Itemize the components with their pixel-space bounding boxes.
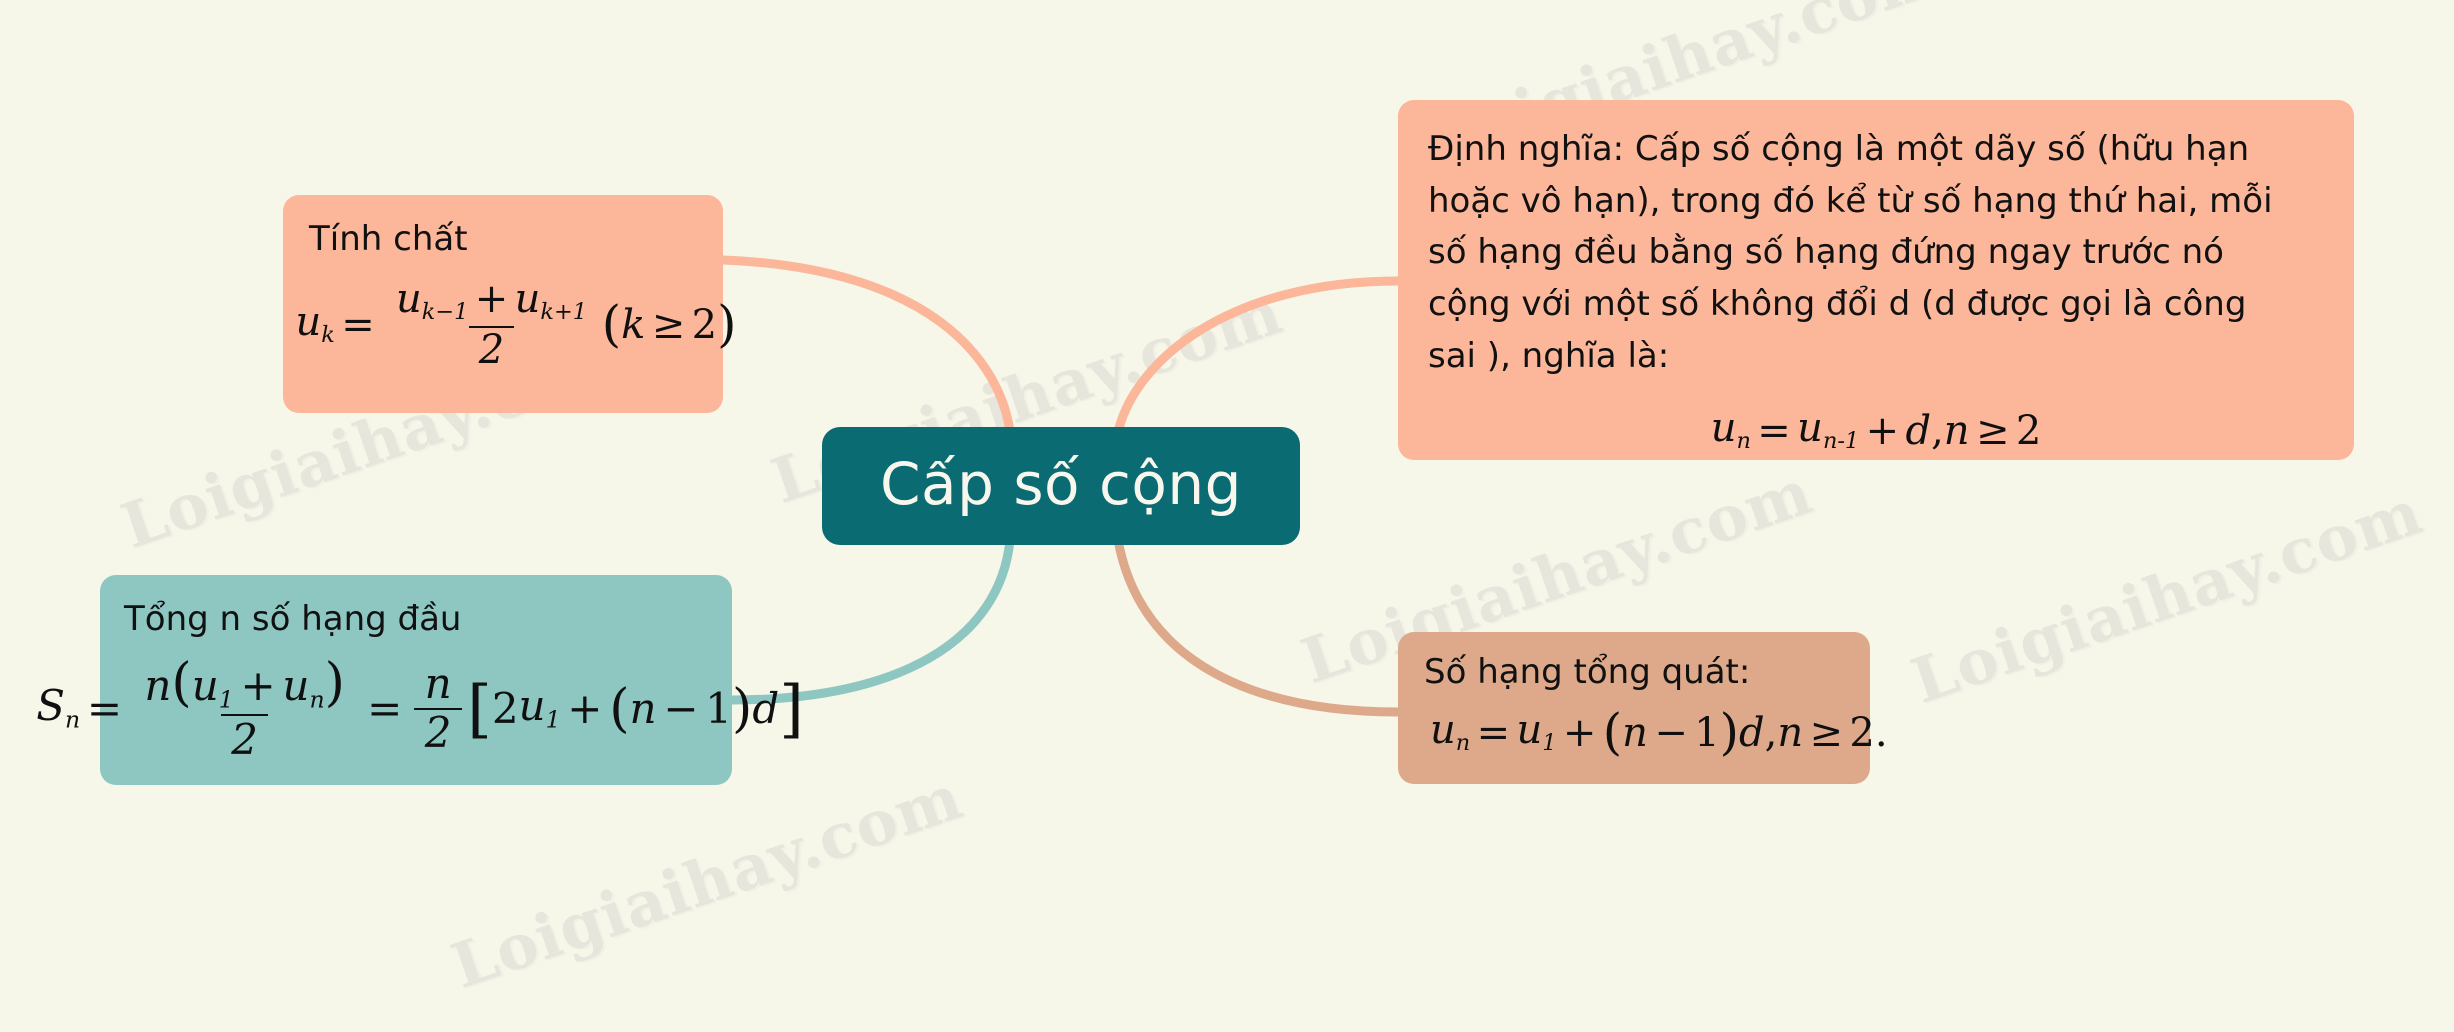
- definition-line-5: sai ), nghĩa là:: [1428, 331, 2324, 383]
- sum-f2-denominator: 2: [414, 708, 462, 755]
- gen-minus: −: [1648, 713, 1694, 753]
- sum-term2-d: d: [752, 688, 779, 730]
- def-rhs: un-1: [1797, 408, 1859, 453]
- gen-eq: =: [1470, 713, 1516, 753]
- prop-cond-val: 2: [692, 305, 717, 345]
- node-sum-title: Tổng n số hạng đầu: [124, 597, 708, 643]
- gen-d: d: [1739, 713, 1765, 753]
- gen-paren-close: ): [1720, 708, 1739, 758]
- def-cond-val: 2: [2016, 411, 2041, 451]
- def-lhs: un: [1711, 408, 1751, 453]
- sum-bracket-open: [: [467, 677, 492, 740]
- gen-comma: ,: [1765, 713, 1778, 753]
- definition-line-1: Định nghĩa: Cấp số cộng là một dãy số (h…: [1428, 124, 2324, 176]
- node-sum-formula-row: Sn = n(u1+un) 2 = n 2 [ 2 u1 + ( n: [124, 645, 708, 761]
- gen-lhs: un: [1430, 710, 1470, 755]
- node-property-formula-row: uk = uk−1+uk+1 2 ( k ≥ 2 ): [309, 269, 697, 370]
- sum-f2-numerator: n: [414, 663, 462, 708]
- gen-plus: +: [1557, 713, 1603, 753]
- gen-cond-rel: ≥: [1803, 713, 1849, 753]
- formula-definition: un = un-1 + d , n ≥ 2: [1711, 408, 2042, 453]
- sum-eq2: =: [360, 688, 409, 730]
- node-general-term[interactable]: Số hạng tổng quát: un = u1 + ( n − 1 ) d…: [1398, 632, 1870, 784]
- definition-line-2: hoặc vô hạn), trong đó kể từ số hạng thứ…: [1428, 176, 2324, 228]
- formula-sum: Sn = n(u1+un) 2 = n 2 [ 2 u1 + ( n: [36, 657, 804, 761]
- sum-eq1: =: [80, 688, 129, 730]
- definition-line-3: số hạng đều bằng số hạng đứng ngay trước…: [1428, 227, 2324, 279]
- def-eq: =: [1751, 411, 1797, 451]
- sum-term2-one: 1: [705, 688, 732, 730]
- gen-cond-val: 2.: [1849, 713, 1887, 753]
- sum-term2-n: n: [630, 688, 657, 730]
- node-sum[interactable]: Tổng n số hạng đầu Sn = n(u1+un) 2 = n 2…: [100, 575, 732, 785]
- prop-cond-rel: ≥: [645, 305, 691, 345]
- mindmap-canvas: Loigiaihay.comLoigiaihay.comLoigiaihay.c…: [0, 0, 2454, 1032]
- prop-fraction: uk−1+uk+1 2: [386, 279, 597, 370]
- connector-central-to-property: [723, 260, 1010, 432]
- formula-general-term: un = u1 + ( n − 1 ) d , n ≥ 2.: [1430, 708, 1888, 758]
- sum-f1-denominator: 2: [221, 714, 269, 761]
- central-node-label: Cấp số cộng: [880, 455, 1242, 517]
- gen-one: 1: [1694, 713, 1719, 753]
- node-general-term-formula-row: un = u1 + ( n − 1 ) d , n ≥ 2.: [1424, 702, 1844, 758]
- gen-paren-open: (: [1603, 708, 1622, 758]
- prop-paren-close: ): [717, 300, 736, 350]
- connector-central-to-general: [1118, 540, 1398, 712]
- sum-term1: u1: [519, 685, 561, 732]
- gen-rhs: u1: [1516, 710, 1556, 755]
- def-cond-rel: ≥: [1970, 411, 2016, 451]
- sum-term2-minus: −: [657, 688, 706, 730]
- sum-term2-close: ): [732, 683, 752, 735]
- sum-fraction-1: n(u1+un) 2: [134, 657, 356, 761]
- prop-lhs: uk: [296, 302, 335, 347]
- def-cond-var: n: [1944, 411, 1970, 451]
- prop-paren-open: (: [602, 300, 621, 350]
- sum-bracket-close: ]: [779, 677, 804, 740]
- sum-lhs: Sn: [36, 685, 80, 732]
- node-definition-formula-row: un = un-1 + d , n ≥ 2: [1428, 382, 2324, 453]
- formula-property: uk = uk−1+uk+1 2 ( k ≥ 2 ): [296, 279, 737, 370]
- prop-eq: =: [335, 305, 381, 345]
- node-definition[interactable]: Định nghĩa: Cấp số cộng là một dãy số (h…: [1398, 100, 2354, 460]
- gen-cond-var: n: [1777, 713, 1803, 753]
- sum-term-plus: +: [561, 688, 610, 730]
- prop-cond-var: k: [621, 305, 645, 345]
- sum-f1-numerator: n(u1+un): [134, 657, 356, 715]
- prop-denominator: 2: [469, 326, 514, 370]
- central-node[interactable]: Cấp số cộng: [822, 427, 1300, 545]
- node-property-title: Tính chất: [309, 217, 697, 263]
- gen-n: n: [1622, 713, 1648, 753]
- node-general-term-title: Số hạng tổng quát:: [1424, 650, 1844, 696]
- def-comma: ,: [1931, 411, 1944, 451]
- sum-term2-open: (: [609, 683, 629, 735]
- def-plus: +: [1859, 411, 1905, 451]
- sum-fraction-2: n 2: [414, 663, 462, 754]
- def-d: d: [1905, 411, 1931, 451]
- sum-term1-coef: 2: [492, 688, 519, 730]
- definition-line-4: cộng với một số không đổi d (d được gọi …: [1428, 279, 2324, 331]
- prop-numerator: uk−1+uk+1: [386, 279, 597, 326]
- connector-central-to-definition: [1118, 281, 1398, 432]
- node-definition-text: Định nghĩa: Cấp số cộng là một dãy số (h…: [1428, 124, 2324, 382]
- node-property[interactable]: Tính chất uk = uk−1+uk+1 2 ( k ≥ 2 ): [283, 195, 723, 413]
